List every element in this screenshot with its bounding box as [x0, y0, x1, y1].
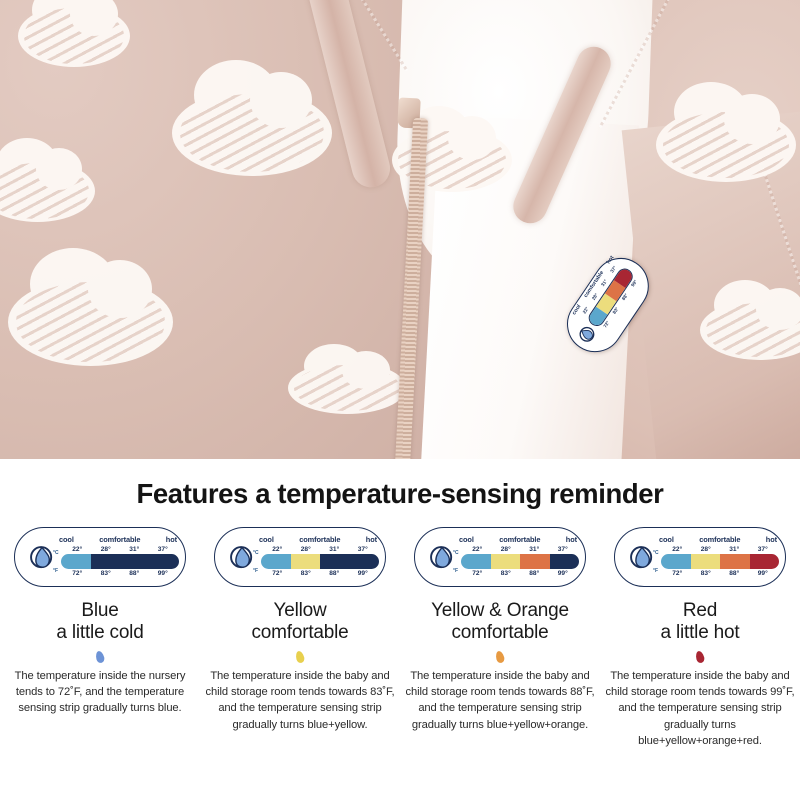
label-hot: hot	[366, 535, 377, 544]
strip-legend: cool comfortable hot	[259, 535, 377, 544]
scale-segment-3	[150, 554, 180, 569]
card-title-line1: Yellow & Orange	[431, 600, 569, 622]
scale-segment-1	[291, 554, 321, 569]
feature-card-blue: cool comfortable hot °C °F 22° 28° 31° 3…	[0, 527, 200, 749]
card-description: The temperature inside the baby and chil…	[602, 668, 798, 749]
card-title-line1: Blue	[56, 600, 143, 622]
unit-fahrenheit: °F	[253, 568, 258, 574]
cloud-motif	[18, 5, 130, 67]
scale-segment-0	[261, 554, 291, 569]
card-title-line2: comfortable	[431, 622, 569, 644]
scale-segment-1	[691, 554, 721, 569]
fahrenheit-row: 72° 83° 88° 99°	[263, 570, 377, 577]
card-title-line2: a little hot	[661, 622, 740, 644]
feature-card-yellow: cool comfortable hot °C °F 22° 28° 31° 3…	[200, 527, 400, 749]
label-hot: hot	[566, 535, 577, 544]
cloud-motif	[8, 278, 173, 366]
scale-segment-1	[491, 554, 521, 569]
color-scale	[461, 554, 579, 569]
card-title: Yellow comfortable	[251, 600, 348, 645]
card-title: Yellow & Orange comfortable	[431, 600, 569, 645]
unit-celsius: °C	[53, 550, 59, 556]
scale-segment-2	[520, 554, 550, 569]
product-photo: cool comfortable hot 22° 28° 31° 37° 72°…	[0, 0, 800, 459]
label-comfortable: comfortable	[99, 535, 140, 544]
strip-legend: cool comfortable hot	[459, 535, 577, 544]
feature-card-yellow-orange: cool comfortable hot °C °F 22° 28° 31° 3…	[400, 527, 600, 749]
fahrenheit-row: 72° 83° 88° 99°	[463, 570, 577, 577]
card-title: Blue a little cold	[56, 600, 143, 645]
celsius-row: 22° 28° 31° 37°	[463, 546, 577, 553]
card-title-line1: Yellow	[251, 600, 348, 622]
scale-segment-2	[320, 554, 350, 569]
scale-segment-3	[550, 554, 580, 569]
cloud-motif	[656, 108, 796, 182]
water-drop-icon	[228, 544, 256, 572]
unit-fahrenheit: °F	[453, 568, 458, 574]
fahrenheit-row: 72° 83° 88° 99°	[63, 570, 177, 577]
status-dot	[95, 650, 106, 664]
card-title-line2: comfortable	[251, 622, 348, 644]
scale-segment-0	[61, 554, 91, 569]
scale-segment-0	[661, 554, 691, 569]
celsius-row: 22° 28° 31° 37°	[63, 546, 177, 553]
card-description: The temperature inside the baby and chil…	[202, 668, 398, 733]
strip-legend: cool comfortable hot	[59, 535, 177, 544]
feature-info-panel: Features a temperature-sensing reminder …	[0, 459, 800, 800]
thermometer-strip: cool comfortable hot °C °F 22° 28° 31° 3…	[614, 527, 786, 587]
unit-celsius: °C	[253, 550, 259, 556]
product-feature-page: cool comfortable hot 22° 28° 31° 37° 72°…	[0, 0, 800, 800]
unit-celsius: °C	[453, 550, 459, 556]
thermometer-strip: cool comfortable hot °C °F 22° 28° 31° 3…	[214, 527, 386, 587]
cloud-motif	[288, 362, 406, 414]
card-title: Red a little hot	[661, 600, 740, 645]
card-description: The temperature inside the baby and chil…	[402, 668, 598, 733]
celsius-row: 22° 28° 31° 37°	[663, 546, 777, 553]
label-comfortable: comfortable	[499, 535, 540, 544]
strip-legend: cool comfortable hot	[659, 535, 777, 544]
label-cool: cool	[659, 535, 674, 544]
card-title-line1: Red	[661, 600, 740, 622]
thermometer-strip: cool comfortable hot °C °F 22° 28° 31° 3…	[14, 527, 186, 587]
water-drop-icon	[428, 544, 456, 572]
color-scale	[61, 554, 179, 569]
unit-fahrenheit: °F	[653, 568, 658, 574]
card-description: The temperature inside the nursery tends…	[2, 668, 198, 717]
status-dot	[295, 650, 306, 664]
celsius-row: 22° 28° 31° 37°	[263, 546, 377, 553]
card-title-line2: a little cold	[56, 622, 143, 644]
label-cool: cool	[259, 535, 274, 544]
feature-card-row: cool comfortable hot °C °F 22° 28° 31° 3…	[0, 527, 800, 749]
status-dot	[495, 650, 506, 664]
scale-segment-2	[120, 554, 150, 569]
color-scale	[261, 554, 379, 569]
status-dot	[695, 650, 706, 664]
scale-segment-1	[91, 554, 121, 569]
cloud-motif	[172, 90, 332, 176]
thermometer-strip: cool comfortable hot °C °F 22° 28° 31° 3…	[414, 527, 586, 587]
water-drop-icon	[28, 544, 56, 572]
water-drop-icon	[628, 544, 656, 572]
scale-segment-2	[720, 554, 750, 569]
unit-fahrenheit: °F	[53, 568, 58, 574]
page-title: Features a temperature-sensing reminder	[0, 478, 800, 510]
label-cool: cool	[59, 535, 74, 544]
feature-card-red: cool comfortable hot °C °F 22° 28° 31° 3…	[600, 527, 800, 749]
fahrenheit-row: 72° 83° 88° 99°	[663, 570, 777, 577]
scale-segment-3	[750, 554, 780, 569]
scale-segment-0	[461, 554, 491, 569]
label-comfortable: comfortable	[699, 535, 740, 544]
unit-celsius: °C	[653, 550, 659, 556]
label-cool: cool	[459, 535, 474, 544]
label-hot: hot	[166, 535, 177, 544]
label-comfortable: comfortable	[299, 535, 340, 544]
scale-segment-3	[350, 554, 380, 569]
color-scale	[661, 554, 779, 569]
label-hot: hot	[766, 535, 777, 544]
